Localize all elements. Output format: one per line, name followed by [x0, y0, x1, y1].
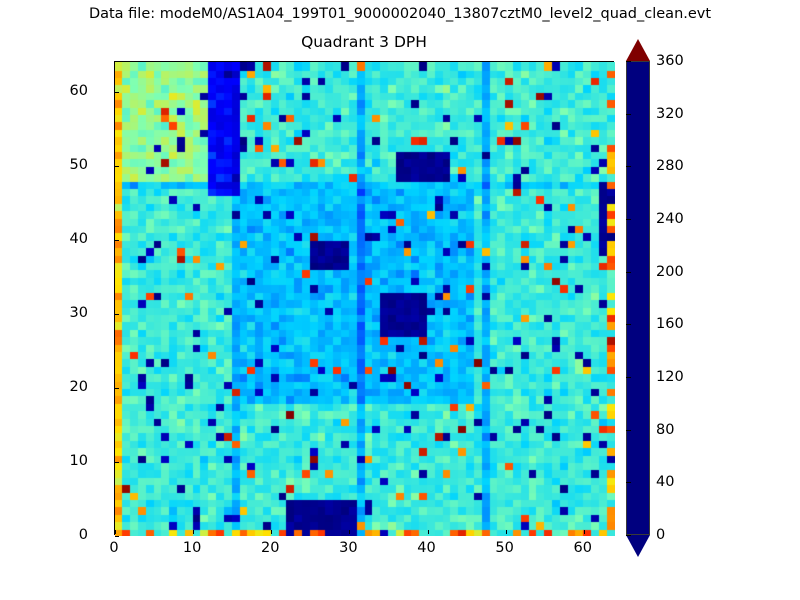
y-axis-tick [115, 388, 119, 389]
y-axis-tick-label: 50 [70, 157, 88, 173]
y-axis-tick-label: 0 [79, 527, 88, 543]
colorbar-tick [626, 377, 631, 378]
x-axis-tick-label: 60 [574, 540, 592, 556]
x-axis-tick [349, 530, 350, 534]
x-axis-tick-label: 30 [339, 540, 357, 556]
y-axis-tick-label: 40 [70, 231, 88, 247]
colorbar-tick [626, 166, 631, 167]
colorbar-tick [626, 430, 631, 431]
x-axis-tick [193, 530, 194, 534]
x-axis-tick-label: 50 [495, 540, 513, 556]
colorbar-tick-label: 280 [656, 158, 684, 174]
y-axis-tick [115, 166, 119, 167]
x-axis-tick [428, 530, 429, 534]
y-axis-tick-label: 10 [70, 453, 88, 469]
colorbar-tick [626, 114, 631, 115]
y-axis-tick-label: 20 [70, 379, 88, 395]
colorbar-tick [626, 219, 631, 220]
colorbar-tick [626, 272, 631, 273]
x-axis-tick [271, 530, 272, 534]
y-axis-tick [115, 536, 119, 537]
colorbar-tick [626, 324, 631, 325]
colorbar-tick-label: 40 [656, 474, 674, 490]
x-axis-tick-label: 10 [183, 540, 201, 556]
figure-canvas: Data file: modeM0/AS1A04_199T01_90000020… [0, 0, 800, 600]
heatmap-image [115, 62, 615, 536]
y-axis-tick [115, 314, 119, 315]
x-axis-tick [115, 530, 116, 534]
y-axis-tick [115, 92, 119, 93]
y-axis-tick [115, 462, 119, 463]
x-axis-tick [584, 530, 585, 534]
colorbar-tick [626, 482, 631, 483]
colorbar[interactable]: 04080120160200240280320360 [626, 61, 650, 535]
colorbar-extend-top-arrow [626, 39, 650, 61]
colorbar-tick-label: 360 [656, 53, 684, 69]
colorbar-extend-bottom-arrow [626, 535, 650, 557]
colorbar-tick-label: 0 [656, 527, 665, 543]
x-axis-tick-label: 20 [261, 540, 279, 556]
x-axis-tick-label: 0 [109, 540, 118, 556]
plot-title: Quadrant 3 DPH [114, 33, 614, 51]
colorbar-tick-label: 160 [656, 316, 684, 332]
colorbar-tick-label: 240 [656, 211, 684, 227]
y-axis-tick [115, 240, 119, 241]
colorbar-tick-label: 80 [656, 422, 674, 438]
y-axis-tick-label: 60 [70, 83, 88, 99]
colorbar-tick [626, 61, 631, 62]
heatmap-axes[interactable] [114, 61, 614, 535]
colorbar-tick-label: 120 [656, 369, 684, 385]
colorbar-gradient [626, 61, 650, 535]
figure-suptitle: Data file: modeM0/AS1A04_199T01_90000020… [0, 6, 800, 22]
colorbar-tick-label: 320 [656, 106, 684, 122]
colorbar-tick [626, 535, 631, 536]
colorbar-tick-label: 200 [656, 264, 684, 280]
x-axis-tick-label: 40 [417, 540, 435, 556]
x-axis-tick [506, 530, 507, 534]
y-axis-tick-label: 30 [70, 305, 88, 321]
